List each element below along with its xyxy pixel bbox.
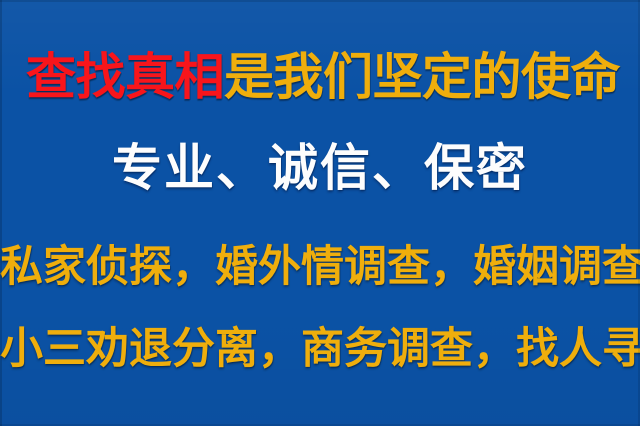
services-line-2: 小三劝退分离，商务调查，找人寻人 bbox=[0, 328, 640, 380]
core-values-line: 专业、诚信、保密 bbox=[0, 143, 640, 201]
advertisement-poster: 查找真相是我们坚定的使命 专业、诚信、保密 私家侦探，婚外情调查，婚姻调查， 小… bbox=[0, 0, 640, 426]
headline-emphasis-text: 查找真相 bbox=[26, 48, 224, 106]
headline-rest-text: 是我们坚定的使命 bbox=[224, 48, 620, 106]
headline-line: 查找真相是我们坚定的使命 bbox=[0, 52, 640, 110]
services-line-1: 私家侦探，婚外情调查，婚姻调查， bbox=[0, 246, 640, 298]
